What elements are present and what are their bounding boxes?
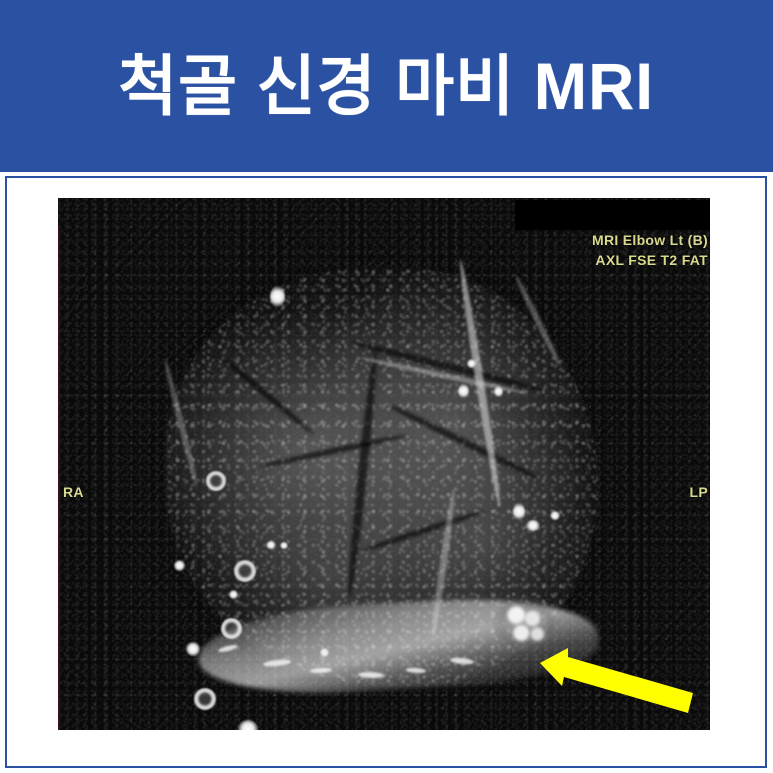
page-title: 척골 신경 마비 MRI (119, 53, 655, 119)
vessel-cross-section (494, 386, 503, 397)
vessel-cross-section (174, 560, 185, 571)
mri-image: MRI Elbow Lt (B) AXL FSE T2 FAT RA LP (58, 198, 710, 730)
vessel-cross-section (467, 359, 476, 368)
dicom-sequence-label: AXL FSE T2 FAT (595, 252, 708, 268)
vessel-cross-section (266, 541, 276, 549)
vessel-cross-section (194, 688, 216, 710)
vessel-cross-section (206, 471, 226, 491)
vessel-cross-section (550, 511, 560, 520)
vessel-cross-section (186, 642, 200, 656)
orientation-label-ra: RA (63, 484, 84, 500)
ulnar-nerve-lesion (494, 596, 556, 652)
vessel-cross-section (270, 286, 285, 307)
vessel-cross-section (513, 503, 525, 520)
orientation-label-lp: LP (690, 484, 709, 500)
dicom-modality-label: MRI Elbow Lt (B) (592, 232, 708, 248)
vessel-cross-section (458, 384, 469, 398)
mri-left-edge-marker (58, 226, 60, 730)
vessel-cross-section (229, 590, 238, 599)
vessel-cross-section (234, 560, 256, 582)
poster-root: 척골 신경 마비 MRI (0, 0, 773, 773)
vessel-cross-section (280, 542, 288, 549)
annotation-overlay-box (515, 200, 710, 230)
header-banner: 척골 신경 마비 MRI (0, 0, 773, 172)
vessel-cross-section (526, 520, 540, 531)
